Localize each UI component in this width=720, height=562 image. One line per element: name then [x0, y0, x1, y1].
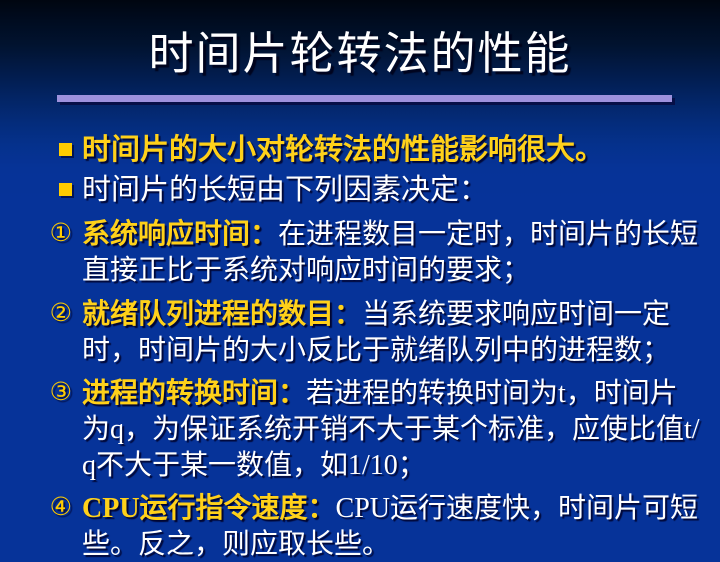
presentation-slide: 时间片轮转法的性能 时间片的大小对轮转法的性能影响很大。 时间片的长短由下列因素… [0, 0, 720, 562]
list-item: 时间片的长短由下列因素决定： [0, 171, 720, 209]
list-item-lead: 就绪队列进程的数目： [82, 299, 362, 330]
list-item-lead: 系统响应时间： [82, 219, 278, 250]
list-item-text: 进程的转换时间：若进程的转换时间为t，时间片为q，为保证系统开销不大于某个标准，… [82, 376, 704, 484]
list-item-text: 时间片的长短由下列因素决定： [82, 171, 704, 209]
list-item-lead: CPU运行指令速度： [82, 493, 336, 524]
circled-number-icon: ④ [0, 491, 72, 525]
list-item-text: CPU运行指令速度：CPU运行速度快，时间片可短些。反之，则应取长些。 [82, 491, 704, 562]
circled-number-icon: ② [0, 297, 72, 331]
slide-title-area: 时间片轮转法的性能 [0, 28, 720, 80]
numbered-list-item: ② 就绪队列进程的数目：当系统要求响应时间一定时，时间片的大小反比于就绪队列中的… [0, 297, 720, 369]
circled-number-icon: ① [0, 217, 72, 251]
numbered-list-item: ④ CPU运行指令速度：CPU运行速度快，时间片可短些。反之，则应取长些。 [0, 491, 720, 562]
numbered-list-item: ① 系统响应时间：在进程数目一定时，时间片的长短直接正比于系统对响应时间的要求； [0, 217, 720, 289]
list-item-lead: 进程的转换时间： [82, 378, 306, 409]
circled-number-icon: ③ [0, 376, 72, 410]
numbered-list-item: ③ 进程的转换时间：若进程的转换时间为t，时间片为q，为保证系统开销不大于某个标… [0, 376, 720, 484]
list-item-text: 时间片的大小对轮转法的性能影响很大。 [82, 131, 704, 169]
list-item-text: 就绪队列进程的数目：当系统要求响应时间一定时，时间片的大小反比于就绪队列中的进程… [82, 297, 704, 369]
title-underline-divider [57, 95, 672, 102]
list-item: 时间片的大小对轮转法的性能影响很大。 [0, 131, 720, 169]
page-title: 时间片轮转法的性能 [148, 28, 571, 80]
list-item-text: 系统响应时间：在进程数目一定时，时间片的长短直接正比于系统对响应时间的要求； [82, 217, 704, 289]
square-bullet-icon [0, 143, 72, 161]
square-bullet-icon [0, 183, 72, 201]
slide-body-list: 时间片的大小对轮转法的性能影响很大。 时间片的长短由下列因素决定： ① 系统响应… [0, 131, 720, 562]
